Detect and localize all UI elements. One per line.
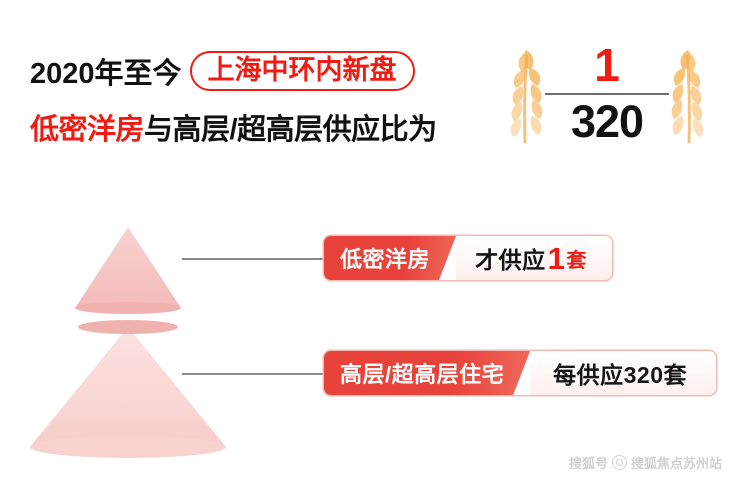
ratio-fraction: 1 320 [544,40,670,148]
callout-high-rise: 高层/超高层住宅 每供应320套 [324,351,716,395]
ratio-fraction-bar [545,93,669,95]
watermark: 搜狐号 搜狐焦点苏州站 [569,453,722,472]
pyramid-bottom-segment [30,320,226,458]
callout-low-density: 低密洋房 才供应1套 [324,236,612,280]
connector-line-top [182,258,330,260]
callout-unit: 套 [566,244,587,273]
callout-tag-low-density: 低密洋房 [324,236,456,280]
callout-tag-high-rise: 高层/超高层住宅 [324,351,530,395]
header-line2-black-text: 与高层/超高层供应比为 [144,114,437,146]
connector-line-bottom [182,373,330,375]
watermark-suffix: 搜狐焦点苏州站 [631,453,722,472]
header-line2-red-text: 低密洋房 [30,114,144,146]
pyramid-chart [8,205,328,470]
ratio-numerator: 1 [544,40,670,90]
at-sign-icon [612,455,627,470]
header-highlight-pill: 上海中环内新盘 [190,51,415,91]
callout-prefix-text: 才供应 [475,241,546,275]
pyramid-top-segment [75,227,181,314]
header-year-text: 2020年至今 [30,50,182,92]
callout-value-low-density: 才供应1套 [456,236,612,280]
watermark-prefix: 搜狐号 [569,453,608,472]
callout-value-high-rise: 每供应320套 [530,351,716,395]
wheat-branch-icon [662,42,718,154]
header-line-2: 低密洋房与高层/超高层供应比为 [30,106,500,148]
infographic-canvas: 2020年至今 上海中环内新盘 低密洋房与高层/超高层供应比为 [0,0,740,486]
ratio-block: 1 320 [494,38,720,160]
header-line-1: 2020年至今 上海中环内新盘 [30,48,500,94]
header-block: 2020年至今 上海中环内新盘 低密洋房与高层/超高层供应比为 [30,48,500,148]
callout-number: 1 [548,243,566,274]
ratio-denominator: 320 [544,96,670,148]
